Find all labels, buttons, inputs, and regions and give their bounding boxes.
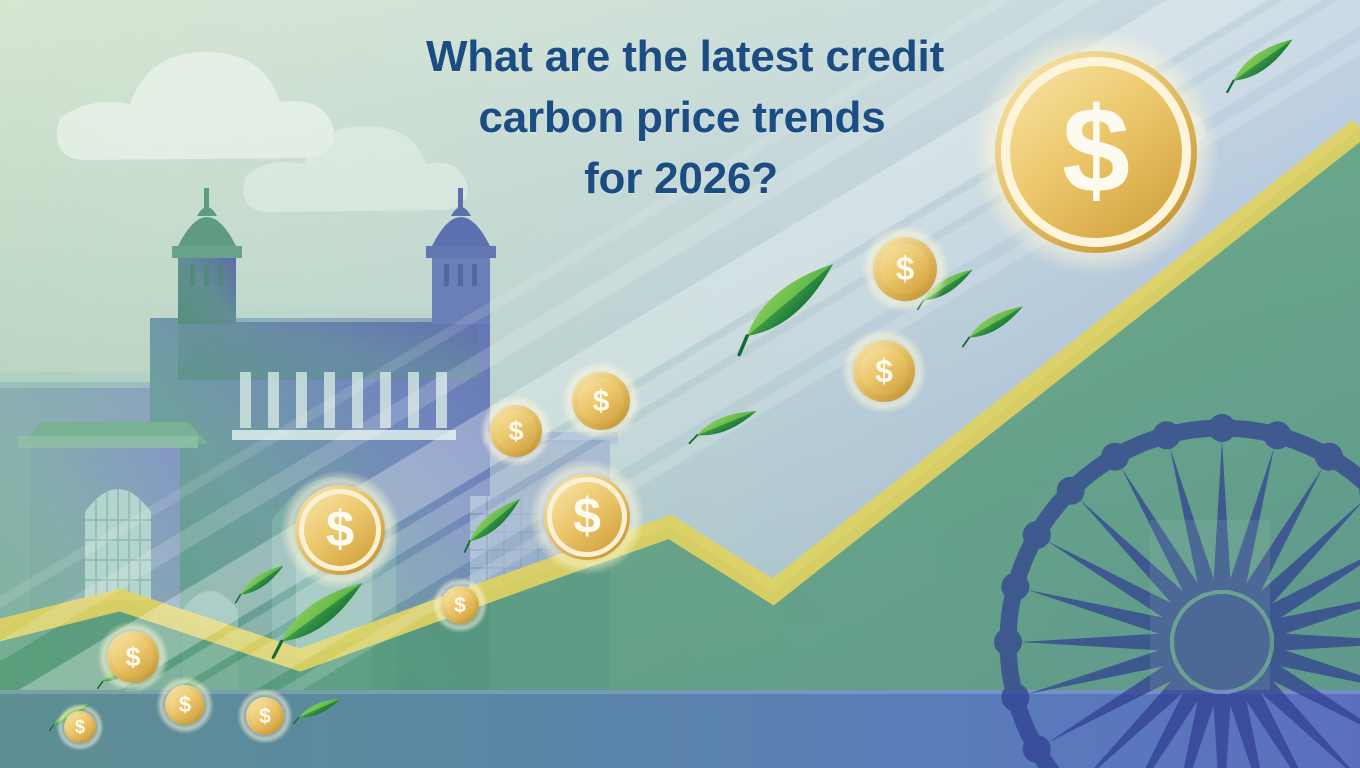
- coin-hero: $: [972, 28, 1220, 276]
- svg-text:$: $: [454, 594, 466, 617]
- poster-illustration: $ $: [0, 0, 1360, 768]
- svg-text:$: $: [896, 250, 914, 287]
- coin-large-1: $: [529, 459, 645, 575]
- svg-text:$: $: [1062, 82, 1130, 218]
- svg-text:$: $: [593, 385, 610, 418]
- coin-mid-5: $: [97, 621, 169, 693]
- svg-text:$: $: [259, 705, 271, 728]
- svg-text:$: $: [573, 488, 601, 544]
- coin-small-4: $: [56, 703, 104, 751]
- coin-large-2: $: [280, 470, 400, 590]
- coin-small-2: $: [156, 676, 214, 734]
- coin-small-1: $: [432, 577, 488, 633]
- svg-text:$: $: [75, 717, 85, 737]
- poster-canvas: $ $: [0, 0, 1360, 768]
- coin-mid-2: $: [841, 328, 927, 414]
- svg-text:$: $: [508, 416, 523, 446]
- coin-mid-3: $: [561, 361, 641, 441]
- svg-text:$: $: [875, 353, 893, 389]
- svg-text:$: $: [179, 692, 191, 717]
- coin-mid-1: $: [861, 225, 949, 313]
- coin-small-3: $: [237, 688, 293, 744]
- svg-text:$: $: [125, 642, 140, 672]
- svg-text:$: $: [326, 500, 354, 557]
- coin-mid-4: $: [480, 395, 552, 467]
